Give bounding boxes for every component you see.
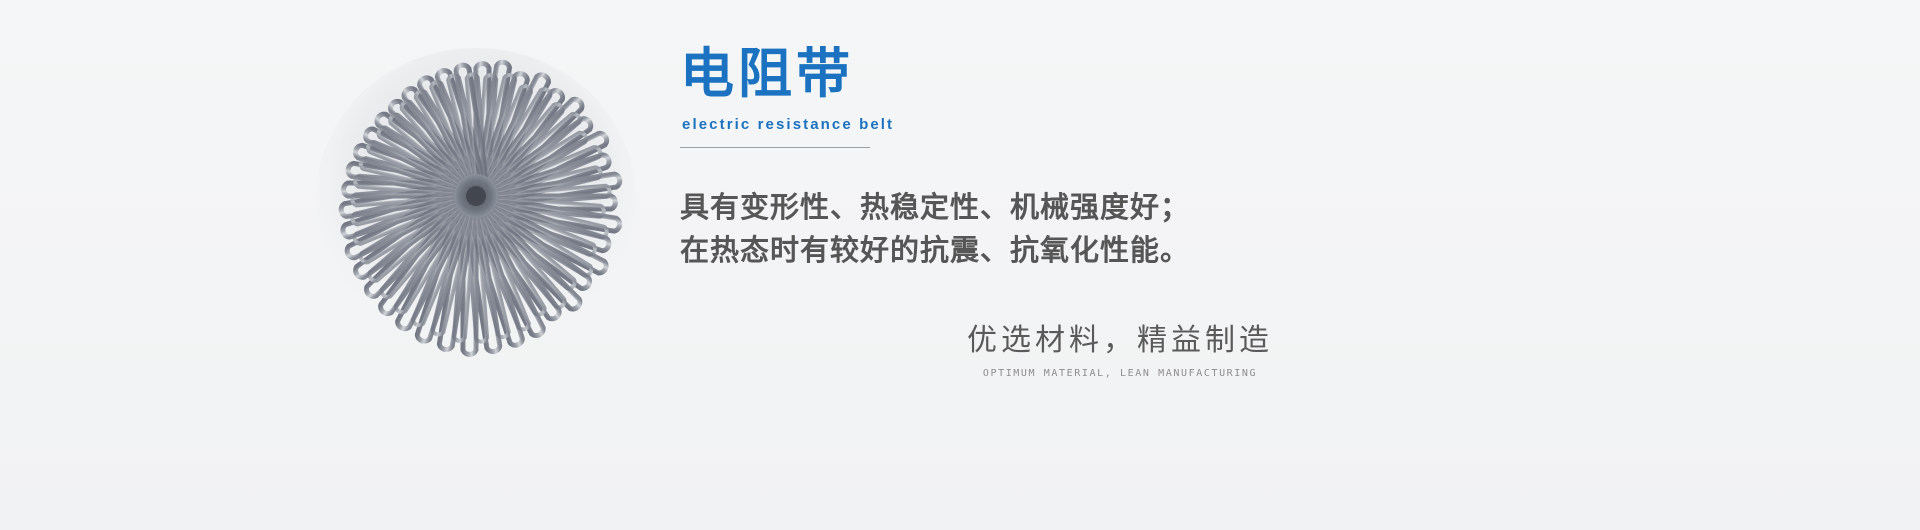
tagline-en: OPTIMUM MATERIAL, LEAN MANUFACTURING [770,368,1470,379]
product-banner: 电阻带 electric resistance belt 具有变形性、热稳定性、… [0,0,1920,530]
resistance-belt-coil-icon [300,48,660,378]
page-subtitle: electric resistance belt [682,116,1680,133]
tagline-block: 优选材料，精益制造 OPTIMUM MATERIAL, LEAN MANUFAC… [770,322,1470,379]
banner-content: 电阻带 electric resistance belt 具有变形性、热稳定性、… [680,44,1680,272]
title-divider [680,147,870,148]
description-block: 具有变形性、热稳定性、机械强度好； 在热态时有较好的抗震、抗氧化性能。 [680,186,1680,272]
tagline-zh: 优选材料，精益制造 [770,322,1470,360]
description-line-2: 在热态时有较好的抗震、抗氧化性能。 [680,229,1680,272]
product-image [300,48,660,378]
description-line-1: 具有变形性、热稳定性、机械强度好； [680,186,1680,229]
page-title: 电阻带 [680,44,1680,104]
